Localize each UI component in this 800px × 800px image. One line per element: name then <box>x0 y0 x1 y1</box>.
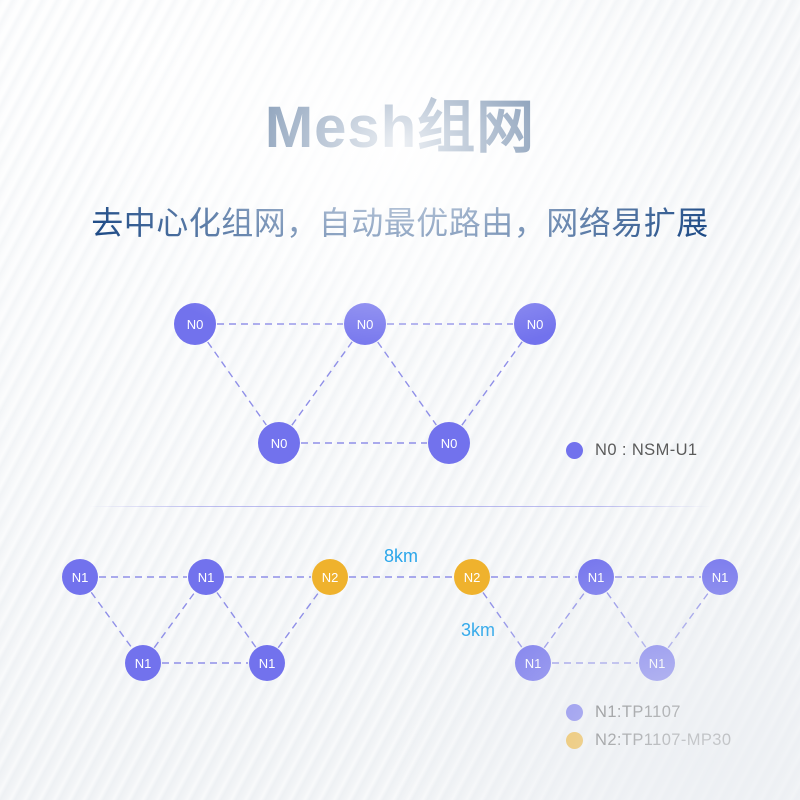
mesh-node-n1: N1 <box>188 559 224 595</box>
node-label: N1 <box>259 656 276 671</box>
node-label: N1 <box>198 570 215 585</box>
legend-dot-n2-icon <box>566 732 583 749</box>
node-label: N1 <box>135 656 152 671</box>
mesh-node-n1: N1 <box>62 559 98 595</box>
mesh-node-n1: N1 <box>515 645 551 681</box>
mesh-link <box>154 592 195 647</box>
mesh-node-n1: N1 <box>249 645 285 681</box>
distance-8km-label: 8km <box>384 546 418 566</box>
mesh-link <box>607 593 646 648</box>
legend-dot-n1-icon <box>566 704 583 721</box>
mesh-node-n1: N1 <box>125 645 161 681</box>
edge-group <box>91 577 709 663</box>
page-background: Mesh组网 去中心化组网，自动最优路由，网络易扩展 N0N0N0N0N0 N1… <box>0 0 800 800</box>
legend-label-n1: N1:TP1107 <box>595 703 681 722</box>
mesh-node-n1: N1 <box>702 559 738 595</box>
legend-item: N2:TP1107-MP30 <box>566 731 731 750</box>
mesh-diagram-bottom: N1N1N2N1N1N2N1N1N1N18km3km <box>0 0 800 800</box>
mesh-node-n2: N2 <box>454 559 490 595</box>
node-label: N1 <box>712 570 729 585</box>
legend-label-n2: N2:TP1107-MP30 <box>595 731 731 750</box>
mesh-node-n1: N1 <box>639 645 675 681</box>
node-label: N1 <box>72 570 89 585</box>
legend-label-n0: N0 : NSM-U1 <box>595 441 698 460</box>
mesh-link <box>544 592 585 647</box>
node-label: N1 <box>525 656 542 671</box>
legend-item: N1:TP1107 <box>566 703 731 722</box>
legend-bottom: N1:TP1107 N2:TP1107-MP30 <box>566 703 731 750</box>
legend-dot-n0-icon <box>566 442 583 459</box>
node-label: N2 <box>322 570 339 585</box>
legend-top: N0 : NSM-U1 <box>566 441 698 460</box>
distance-3km-label: 3km <box>461 620 495 640</box>
mesh-link <box>91 592 132 647</box>
mesh-link <box>278 592 319 647</box>
mesh-node-n1: N1 <box>578 559 614 595</box>
node-label: N2 <box>464 570 481 585</box>
mesh-node-n2: N2 <box>312 559 348 595</box>
node-label: N1 <box>588 570 605 585</box>
legend-item: N0 : NSM-U1 <box>566 441 698 460</box>
mesh-link <box>217 593 256 648</box>
mesh-link <box>668 592 709 647</box>
node-label: N1 <box>649 656 666 671</box>
